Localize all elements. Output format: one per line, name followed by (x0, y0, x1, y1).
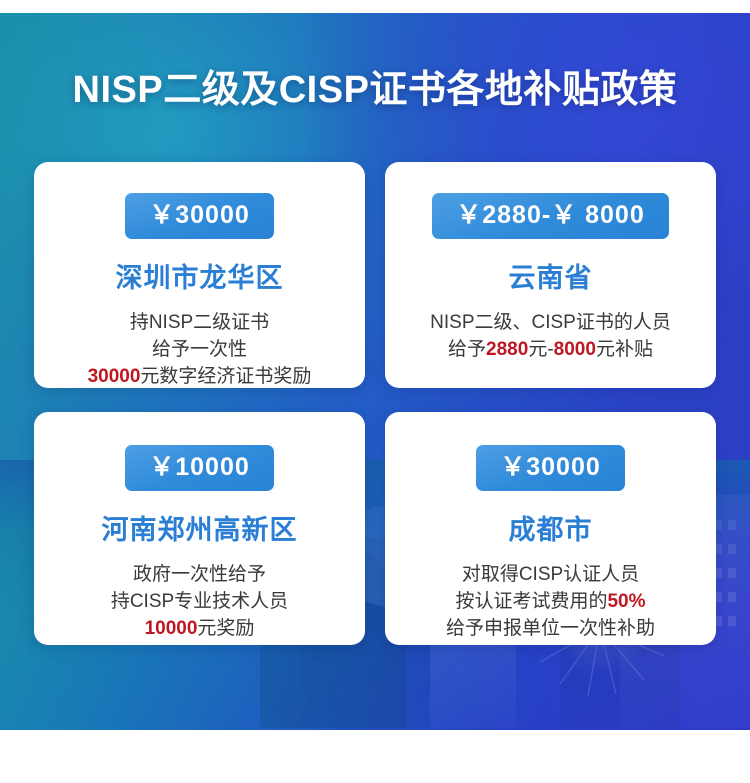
highlighted-amount: 2880 (486, 339, 528, 360)
highlighted-amount: 8000 (554, 339, 596, 360)
policy-description: 对取得CISP认证人员按认证考试费用的50%给予申报单位一次性补助 (446, 562, 655, 643)
subsidy-card-grid: ￥30000 深圳市龙华区 持NISP二级证书给予一次性30000元数字经济证书… (34, 162, 716, 645)
amount-badge: ￥30000 (476, 445, 625, 491)
description-text: 元- (528, 339, 553, 360)
amount-badge: ￥2880-￥ 8000 (432, 193, 669, 239)
region-name: 河南郑州高新区 (102, 508, 298, 547)
region-name: 成都市 (509, 508, 593, 547)
policy-description: NISP二级、CISP证书的人员给予2880元-8000元补贴 (430, 310, 671, 364)
subsidy-card-shenzhen-longhua[interactable]: ￥30000 深圳市龙华区 持NISP二级证书给予一次性30000元数字经济证书… (34, 162, 365, 388)
description-text: 元奖励 (197, 618, 254, 639)
description-text: NISP二级、CISP证书的人员 (430, 312, 671, 333)
description-text: 政府一次性给予 (133, 564, 266, 585)
policy-description: 政府一次性给予持CISP专业技术人员10000元奖励 (111, 562, 288, 643)
subsidy-card-chengdu[interactable]: ￥30000 成都市 对取得CISP认证人员按认证考试费用的50%给予申报单位一… (385, 412, 716, 645)
description-text: 给予 (448, 339, 486, 360)
promo-poster: NISP二级及CISP证书各地补贴政策 ￥30000 深圳市龙华区 持NISP二… (0, 13, 750, 730)
amount-badge: ￥30000 (125, 193, 274, 239)
description-text: 按认证考试费用的 (455, 591, 607, 612)
description-text: 元数字经济证书奖励 (140, 366, 311, 387)
description-text: 对取得CISP认证人员 (462, 564, 639, 585)
region-name: 深圳市龙华区 (116, 256, 284, 295)
region-name: 云南省 (509, 256, 593, 295)
description-text: 元补贴 (596, 339, 653, 360)
description-text: 持NISP二级证书 (130, 312, 269, 333)
highlighted-amount: 10000 (145, 618, 198, 639)
subsidy-card-yunnan[interactable]: ￥2880-￥ 8000 云南省 NISP二级、CISP证书的人员给予2880元… (385, 162, 716, 388)
description-text: 给予一次性 (152, 339, 247, 360)
amount-badge: ￥10000 (125, 445, 274, 491)
highlighted-amount: 50% (607, 591, 645, 612)
highlighted-amount: 30000 (88, 366, 141, 387)
description-text: 给予申报单位一次性补助 (446, 618, 655, 639)
page-title: NISP二级及CISP证书各地补贴政策 (0, 58, 750, 113)
description-text: 持CISP专业技术人员 (111, 591, 288, 612)
subsidy-card-henan-zhengzhou-gaoxin[interactable]: ￥10000 河南郑州高新区 政府一次性给予持CISP专业技术人员10000元奖… (34, 412, 365, 645)
policy-description: 持NISP二级证书给予一次性30000元数字经济证书奖励 (88, 310, 312, 391)
